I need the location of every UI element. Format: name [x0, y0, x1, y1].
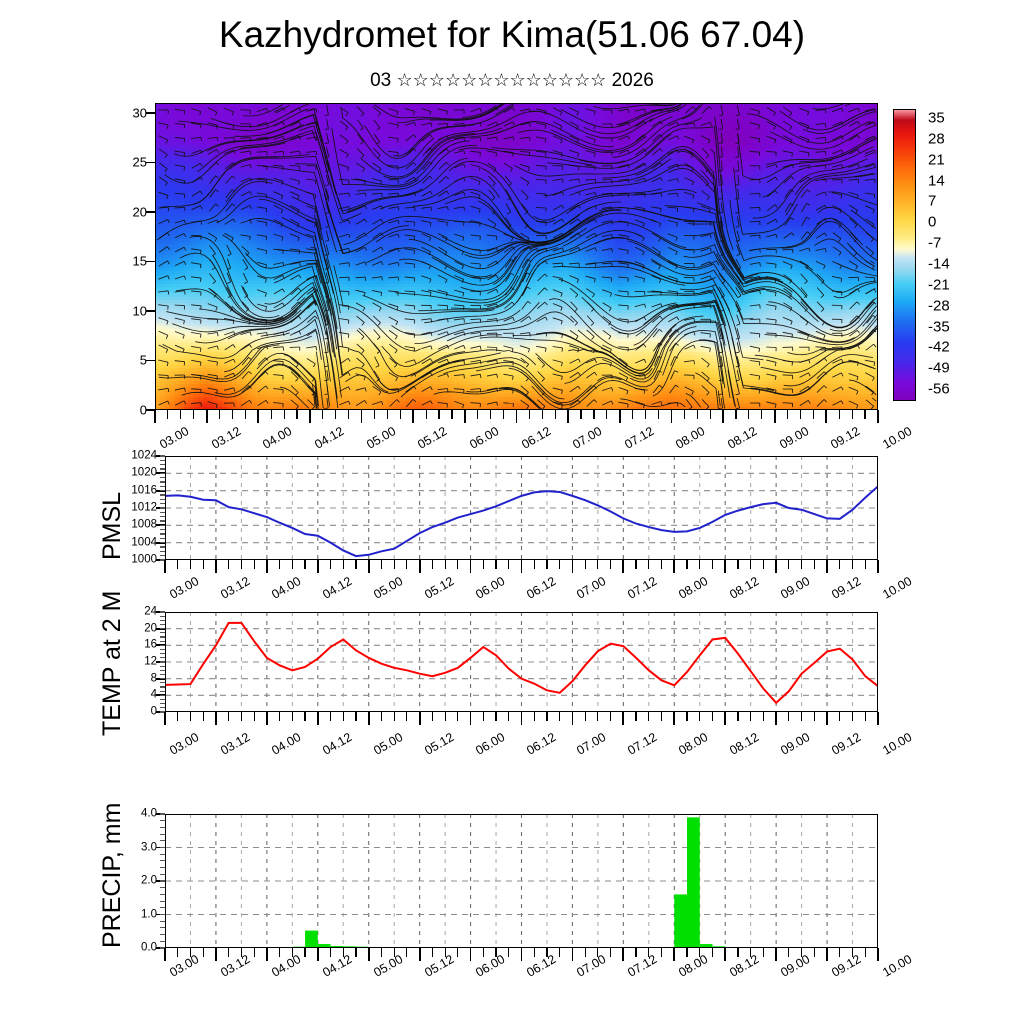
x-tick-minor: [381, 948, 382, 957]
y-tick-minor: [160, 477, 165, 478]
x-tick-minor: [355, 560, 356, 569]
x-tick-major: [826, 560, 828, 573]
x-tick-major: [317, 560, 319, 573]
x-tick-major: [877, 948, 879, 961]
x-tick-minor: [245, 410, 246, 419]
x-tick-minor: [699, 712, 700, 721]
x-tick-minor: [432, 712, 433, 721]
x-tick-minor: [400, 410, 401, 419]
x-tick-label: 08.00: [676, 952, 710, 980]
x-tick-minor: [292, 560, 293, 569]
x-tick-major: [361, 410, 363, 423]
x-tick-minor: [203, 948, 204, 957]
y-tick-label: 3.0: [117, 842, 157, 854]
x-tick-minor: [193, 410, 194, 419]
colorbar-tick-label: 28: [928, 130, 945, 147]
x-tick-major: [470, 560, 472, 573]
y-tick-minor: [160, 707, 165, 708]
x-tick-major: [521, 948, 523, 961]
y-tick-label: 1.0: [117, 909, 157, 921]
x-tick-major: [775, 948, 777, 961]
x-tick-major: [572, 948, 574, 961]
x-tick-label: 08.12: [725, 424, 759, 452]
x-tick-minor: [228, 948, 229, 957]
x-tick-minor: [508, 560, 509, 569]
x-tick-minor: [632, 410, 633, 419]
x-tick-label: 07.12: [626, 730, 660, 758]
x-tick-minor: [748, 410, 749, 419]
x-tick-minor: [534, 712, 535, 721]
x-tick-label: 03.00: [167, 574, 201, 602]
x-tick-minor: [697, 410, 698, 419]
x-tick-minor: [232, 410, 233, 419]
x-tick-major: [521, 560, 523, 573]
x-tick-minor: [661, 712, 662, 721]
x-tick-minor: [167, 410, 168, 419]
x-tick-label: 05.12: [415, 424, 449, 452]
x-tick-label: 09.00: [778, 730, 812, 758]
x-tick-minor: [495, 712, 496, 721]
cross-section-panel: [155, 103, 878, 410]
y-tick-minor: [160, 678, 165, 679]
x-tick-minor: [508, 712, 509, 721]
colorbar-tick-label: 21: [928, 151, 945, 168]
x-tick-minor: [304, 712, 305, 721]
x-tick-major: [412, 410, 414, 423]
x-tick-minor: [406, 948, 407, 957]
y-tick-label: 20: [107, 205, 147, 218]
x-tick-minor: [645, 410, 646, 419]
x-tick-label: 04.12: [320, 574, 354, 602]
x-tick-minor: [610, 948, 611, 957]
x-tick-minor: [330, 712, 331, 721]
x-tick-minor: [555, 410, 556, 419]
y-tick-minor: [160, 666, 165, 667]
x-tick-label: 03.00: [167, 730, 201, 758]
x-tick-major: [215, 712, 217, 725]
y-tick-minor: [160, 546, 165, 547]
y-tick-minor: [160, 686, 165, 687]
colorbar-tick-label: -28: [928, 297, 950, 314]
x-tick-minor: [814, 948, 815, 957]
x-tick-minor: [737, 560, 738, 569]
x-tick-minor: [503, 410, 504, 419]
x-tick-label: 06.00: [473, 730, 507, 758]
x-tick-major: [521, 712, 523, 725]
subtitle-year: 2026: [612, 70, 654, 91]
y-tick-minor: [160, 628, 165, 629]
x-tick-major: [470, 948, 472, 961]
y-tick-label: 1004: [117, 537, 157, 549]
y-tick-minor: [160, 907, 165, 908]
y-tick-minor: [160, 616, 165, 617]
x-tick-minor: [546, 560, 547, 569]
x-tick-minor: [534, 948, 535, 957]
colorbar-tick-label: -42: [928, 339, 950, 356]
y-tick-label: 0: [117, 706, 157, 718]
x-tick-major: [419, 712, 421, 725]
y-tick-minor: [160, 555, 165, 556]
x-tick-minor: [292, 712, 293, 721]
x-tick-label: 03.00: [157, 424, 191, 452]
x-tick-label: 03.12: [209, 424, 243, 452]
x-tick-label: 06.00: [467, 424, 501, 452]
x-tick-major: [419, 948, 421, 961]
x-tick-minor: [610, 712, 611, 721]
y-tick-major: [146, 162, 155, 164]
x-tick-minor: [335, 410, 336, 419]
x-tick-minor: [438, 410, 439, 419]
y-tick-minor: [160, 486, 165, 487]
subtitle-month-glyphs: ☆☆☆☆☆☆☆☆☆☆☆☆☆: [397, 70, 607, 90]
y-tick-minor: [160, 695, 165, 696]
x-tick-minor: [330, 948, 331, 957]
x-tick-minor: [508, 948, 509, 957]
x-tick-minor: [648, 560, 649, 569]
x-tick-minor: [284, 410, 285, 419]
x-tick-label: 04.12: [320, 952, 354, 980]
x-tick-major: [266, 560, 268, 573]
x-tick-major: [774, 410, 776, 423]
x-tick-minor: [445, 712, 446, 721]
x-tick-major: [266, 712, 268, 725]
y-tick-label: 0.0: [117, 942, 157, 954]
y-tick-label: 25: [107, 156, 147, 169]
x-tick-label: 07.00: [575, 574, 609, 602]
y-tick-minor: [160, 941, 165, 942]
y-tick-minor: [160, 674, 165, 675]
y-tick-minor: [160, 653, 165, 654]
x-tick-label: 10.00: [880, 952, 914, 980]
x-tick-minor: [686, 560, 687, 569]
x-tick-minor: [529, 410, 530, 419]
x-tick-major: [516, 410, 518, 423]
x-tick-label: 09.00: [778, 574, 812, 602]
x-tick-minor: [559, 560, 560, 569]
y-tick-minor: [160, 512, 165, 513]
x-tick-major: [206, 410, 208, 423]
pmsl-frame: [165, 456, 878, 560]
x-tick-minor: [190, 560, 191, 569]
x-tick-label: 07.12: [626, 574, 660, 602]
x-tick-minor: [546, 712, 547, 721]
x-tick-major: [673, 560, 675, 573]
y-tick-minor: [160, 542, 165, 543]
x-tick-minor: [585, 560, 586, 569]
precip-panel: [165, 814, 878, 948]
y-tick-major: [146, 211, 155, 213]
x-tick-minor: [241, 712, 242, 721]
x-tick-label: 03.00: [167, 952, 201, 980]
y-tick-minor: [160, 649, 165, 650]
y-tick-minor: [160, 464, 165, 465]
y-tick-minor: [160, 813, 165, 814]
y-tick-minor: [160, 641, 165, 642]
y-tick-minor: [160, 820, 165, 821]
x-tick-minor: [432, 948, 433, 957]
x-tick-minor: [699, 560, 700, 569]
x-tick-minor: [279, 560, 280, 569]
colorbar-tick-label: 0: [928, 214, 936, 231]
x-tick-minor: [839, 712, 840, 721]
x-tick-major: [164, 712, 166, 725]
x-tick-major: [567, 410, 569, 423]
y-tick-label: 8: [117, 673, 157, 685]
x-tick-minor: [355, 712, 356, 721]
x-tick-major: [724, 948, 726, 961]
x-tick-major: [673, 948, 675, 961]
y-tick-label: 30: [107, 106, 147, 119]
y-tick-minor: [160, 481, 165, 482]
x-tick-label: 06.00: [473, 574, 507, 602]
x-tick-minor: [534, 560, 535, 569]
x-tick-minor: [490, 410, 491, 419]
x-tick-minor: [814, 560, 815, 569]
x-tick-minor: [483, 560, 484, 569]
x-tick-minor: [585, 712, 586, 721]
x-tick-minor: [374, 410, 375, 419]
x-tick-minor: [457, 560, 458, 569]
x-tick-major: [722, 410, 724, 423]
x-tick-label: 05.12: [422, 574, 456, 602]
x-tick-minor: [635, 712, 636, 721]
x-tick-major: [368, 560, 370, 573]
x-tick-minor: [542, 410, 543, 419]
x-tick-label: 09.12: [829, 574, 863, 602]
x-tick-minor: [635, 948, 636, 957]
x-tick-label: 03.12: [218, 574, 252, 602]
x-tick-minor: [813, 410, 814, 419]
y-tick-minor: [160, 934, 165, 935]
y-tick-label: 1008: [117, 520, 157, 532]
subtitle-date: 03 ☆☆☆☆☆☆☆☆☆☆☆☆☆ 2026: [0, 70, 1024, 92]
x-tick-minor: [457, 712, 458, 721]
temp-panel: [165, 612, 878, 712]
x-tick-label: 09.12: [829, 730, 863, 758]
y-tick-minor: [160, 901, 165, 902]
x-tick-label: 06.00: [473, 952, 507, 980]
x-tick-minor: [648, 712, 649, 721]
x-tick-minor: [610, 560, 611, 569]
x-tick-label: 07.00: [570, 424, 604, 452]
x-tick-minor: [735, 410, 736, 419]
y-tick-label: 1024: [117, 450, 157, 462]
x-tick-major: [419, 560, 421, 573]
y-tick-minor: [160, 921, 165, 922]
x-tick-label: 08.12: [727, 952, 761, 980]
x-tick-label: 08.00: [676, 574, 710, 602]
x-tick-label: 08.12: [727, 730, 761, 758]
x-tick-minor: [279, 712, 280, 721]
x-tick-major: [622, 948, 624, 961]
x-tick-label: 05.12: [422, 952, 456, 980]
y-tick-label: 5: [107, 354, 147, 367]
y-tick-minor: [160, 468, 165, 469]
x-tick-major: [309, 410, 311, 423]
x-tick-minor: [304, 948, 305, 957]
colorbar-tick-label: -7: [928, 235, 941, 252]
y-tick-minor: [160, 503, 165, 504]
y-tick-minor: [160, 670, 165, 671]
colorbar-tick-label: 7: [928, 193, 936, 210]
x-tick-minor: [737, 712, 738, 721]
x-tick-minor: [241, 560, 242, 569]
x-tick-major: [317, 948, 319, 961]
x-tick-label: 10.00: [880, 574, 914, 602]
x-tick-label: 05.00: [364, 424, 398, 452]
y-tick-minor: [160, 494, 165, 495]
colorbar-tick-label: -56: [928, 381, 950, 398]
x-tick-major: [164, 948, 166, 961]
x-tick-minor: [483, 948, 484, 957]
cross-section-frame: [155, 103, 878, 410]
x-tick-minor: [304, 560, 305, 569]
x-tick-minor: [686, 948, 687, 957]
x-tick-minor: [712, 712, 713, 721]
x-tick-label: 03.12: [218, 730, 252, 758]
x-tick-minor: [495, 560, 496, 569]
y-tick-minor: [160, 894, 165, 895]
colorbar-tick-label: -14: [928, 255, 950, 272]
x-tick-major: [775, 560, 777, 573]
x-tick-label: 09.12: [829, 424, 863, 452]
x-tick-major: [368, 712, 370, 725]
x-tick-major: [826, 712, 828, 725]
x-tick-major: [164, 560, 166, 573]
x-tick-minor: [585, 948, 586, 957]
x-tick-minor: [635, 560, 636, 569]
y-tick-minor: [160, 914, 165, 915]
y-tick-minor: [160, 624, 165, 625]
x-tick-minor: [787, 410, 788, 419]
y-tick-label: 15: [107, 255, 147, 268]
x-tick-minor: [177, 712, 178, 721]
y-tick-label: 1000: [117, 554, 157, 566]
y-tick-minor: [160, 840, 165, 841]
x-tick-minor: [710, 410, 711, 419]
x-tick-minor: [684, 410, 685, 419]
x-tick-minor: [606, 410, 607, 419]
y-tick-minor: [160, 551, 165, 552]
y-tick-minor: [160, 516, 165, 517]
x-tick-label: 04.00: [269, 730, 303, 758]
x-tick-major: [877, 410, 879, 423]
x-tick-label: 10.00: [880, 424, 914, 452]
x-tick-minor: [750, 712, 751, 721]
x-tick-minor: [355, 948, 356, 957]
y-tick-label: 4.0: [117, 808, 157, 820]
y-tick-label: 12: [117, 656, 157, 668]
x-tick-label: 04.00: [260, 424, 294, 452]
x-tick-minor: [343, 560, 344, 569]
y-tick-minor: [160, 533, 165, 534]
x-tick-minor: [580, 410, 581, 419]
y-tick-minor: [160, 529, 165, 530]
y-tick-minor: [160, 525, 165, 526]
y-tick-minor: [160, 520, 165, 521]
x-tick-major: [572, 712, 574, 725]
colorbar-tick-label: -49: [928, 360, 950, 377]
x-tick-minor: [254, 560, 255, 569]
y-tick-minor: [160, 632, 165, 633]
x-tick-minor: [658, 410, 659, 419]
x-tick-minor: [394, 712, 395, 721]
x-tick-minor: [852, 712, 853, 721]
precip-frame: [165, 814, 878, 948]
x-tick-minor: [228, 712, 229, 721]
x-tick-minor: [322, 410, 323, 419]
x-tick-label: 04.00: [269, 574, 303, 602]
colorbar-tick-label: -35: [928, 318, 950, 335]
x-tick-minor: [761, 410, 762, 419]
x-tick-minor: [203, 560, 204, 569]
x-tick-label: 04.12: [312, 424, 346, 452]
x-tick-minor: [203, 712, 204, 721]
x-tick-minor: [788, 948, 789, 957]
x-tick-major: [826, 948, 828, 961]
page-title: Kazhydromet for Kima(51.06 67.04): [0, 14, 1024, 56]
x-tick-major: [673, 712, 675, 725]
y-tick-label: 4: [117, 690, 157, 702]
x-tick-major: [215, 948, 217, 961]
x-tick-minor: [788, 560, 789, 569]
x-tick-minor: [852, 560, 853, 569]
x-tick-minor: [839, 560, 840, 569]
temperature-colorbar: [893, 109, 916, 401]
y-tick-minor: [160, 455, 165, 456]
x-tick-major: [622, 712, 624, 725]
x-tick-major: [877, 712, 879, 725]
y-tick-minor: [160, 827, 165, 828]
x-tick-label: 07.12: [622, 424, 656, 452]
y-tick-minor: [160, 661, 165, 662]
x-tick-major: [215, 560, 217, 573]
x-tick-major: [724, 560, 726, 573]
y-tick-minor: [160, 460, 165, 461]
x-tick-major: [775, 712, 777, 725]
x-tick-label: 05.00: [371, 730, 405, 758]
y-tick-label: 1012: [117, 502, 157, 514]
x-tick-minor: [219, 410, 220, 419]
x-tick-label: 04.12: [320, 730, 354, 758]
y-tick-minor: [160, 499, 165, 500]
x-tick-minor: [864, 410, 865, 419]
y-tick-minor: [160, 507, 165, 508]
x-tick-minor: [445, 560, 446, 569]
x-tick-minor: [394, 560, 395, 569]
y-tick-minor: [160, 636, 165, 637]
y-tick-minor: [160, 867, 165, 868]
y-tick-label: 0: [107, 404, 147, 417]
x-tick-major: [464, 410, 466, 423]
x-tick-minor: [483, 712, 484, 721]
x-tick-minor: [593, 410, 594, 419]
x-tick-major: [154, 410, 156, 423]
x-tick-label: 06.12: [524, 730, 558, 758]
y-tick-label: 1020: [117, 468, 157, 480]
y-tick-label: 2.0: [117, 875, 157, 887]
x-tick-label: 07.00: [575, 730, 609, 758]
y-tick-minor: [160, 611, 165, 612]
y-tick-minor: [160, 682, 165, 683]
colorbar-tick-label: 14: [928, 172, 945, 189]
y-tick-minor: [160, 691, 165, 692]
x-tick-minor: [343, 712, 344, 721]
x-tick-minor: [330, 560, 331, 569]
y-tick-major: [146, 112, 155, 114]
x-tick-label: 08.00: [674, 424, 708, 452]
x-tick-major: [671, 410, 673, 423]
